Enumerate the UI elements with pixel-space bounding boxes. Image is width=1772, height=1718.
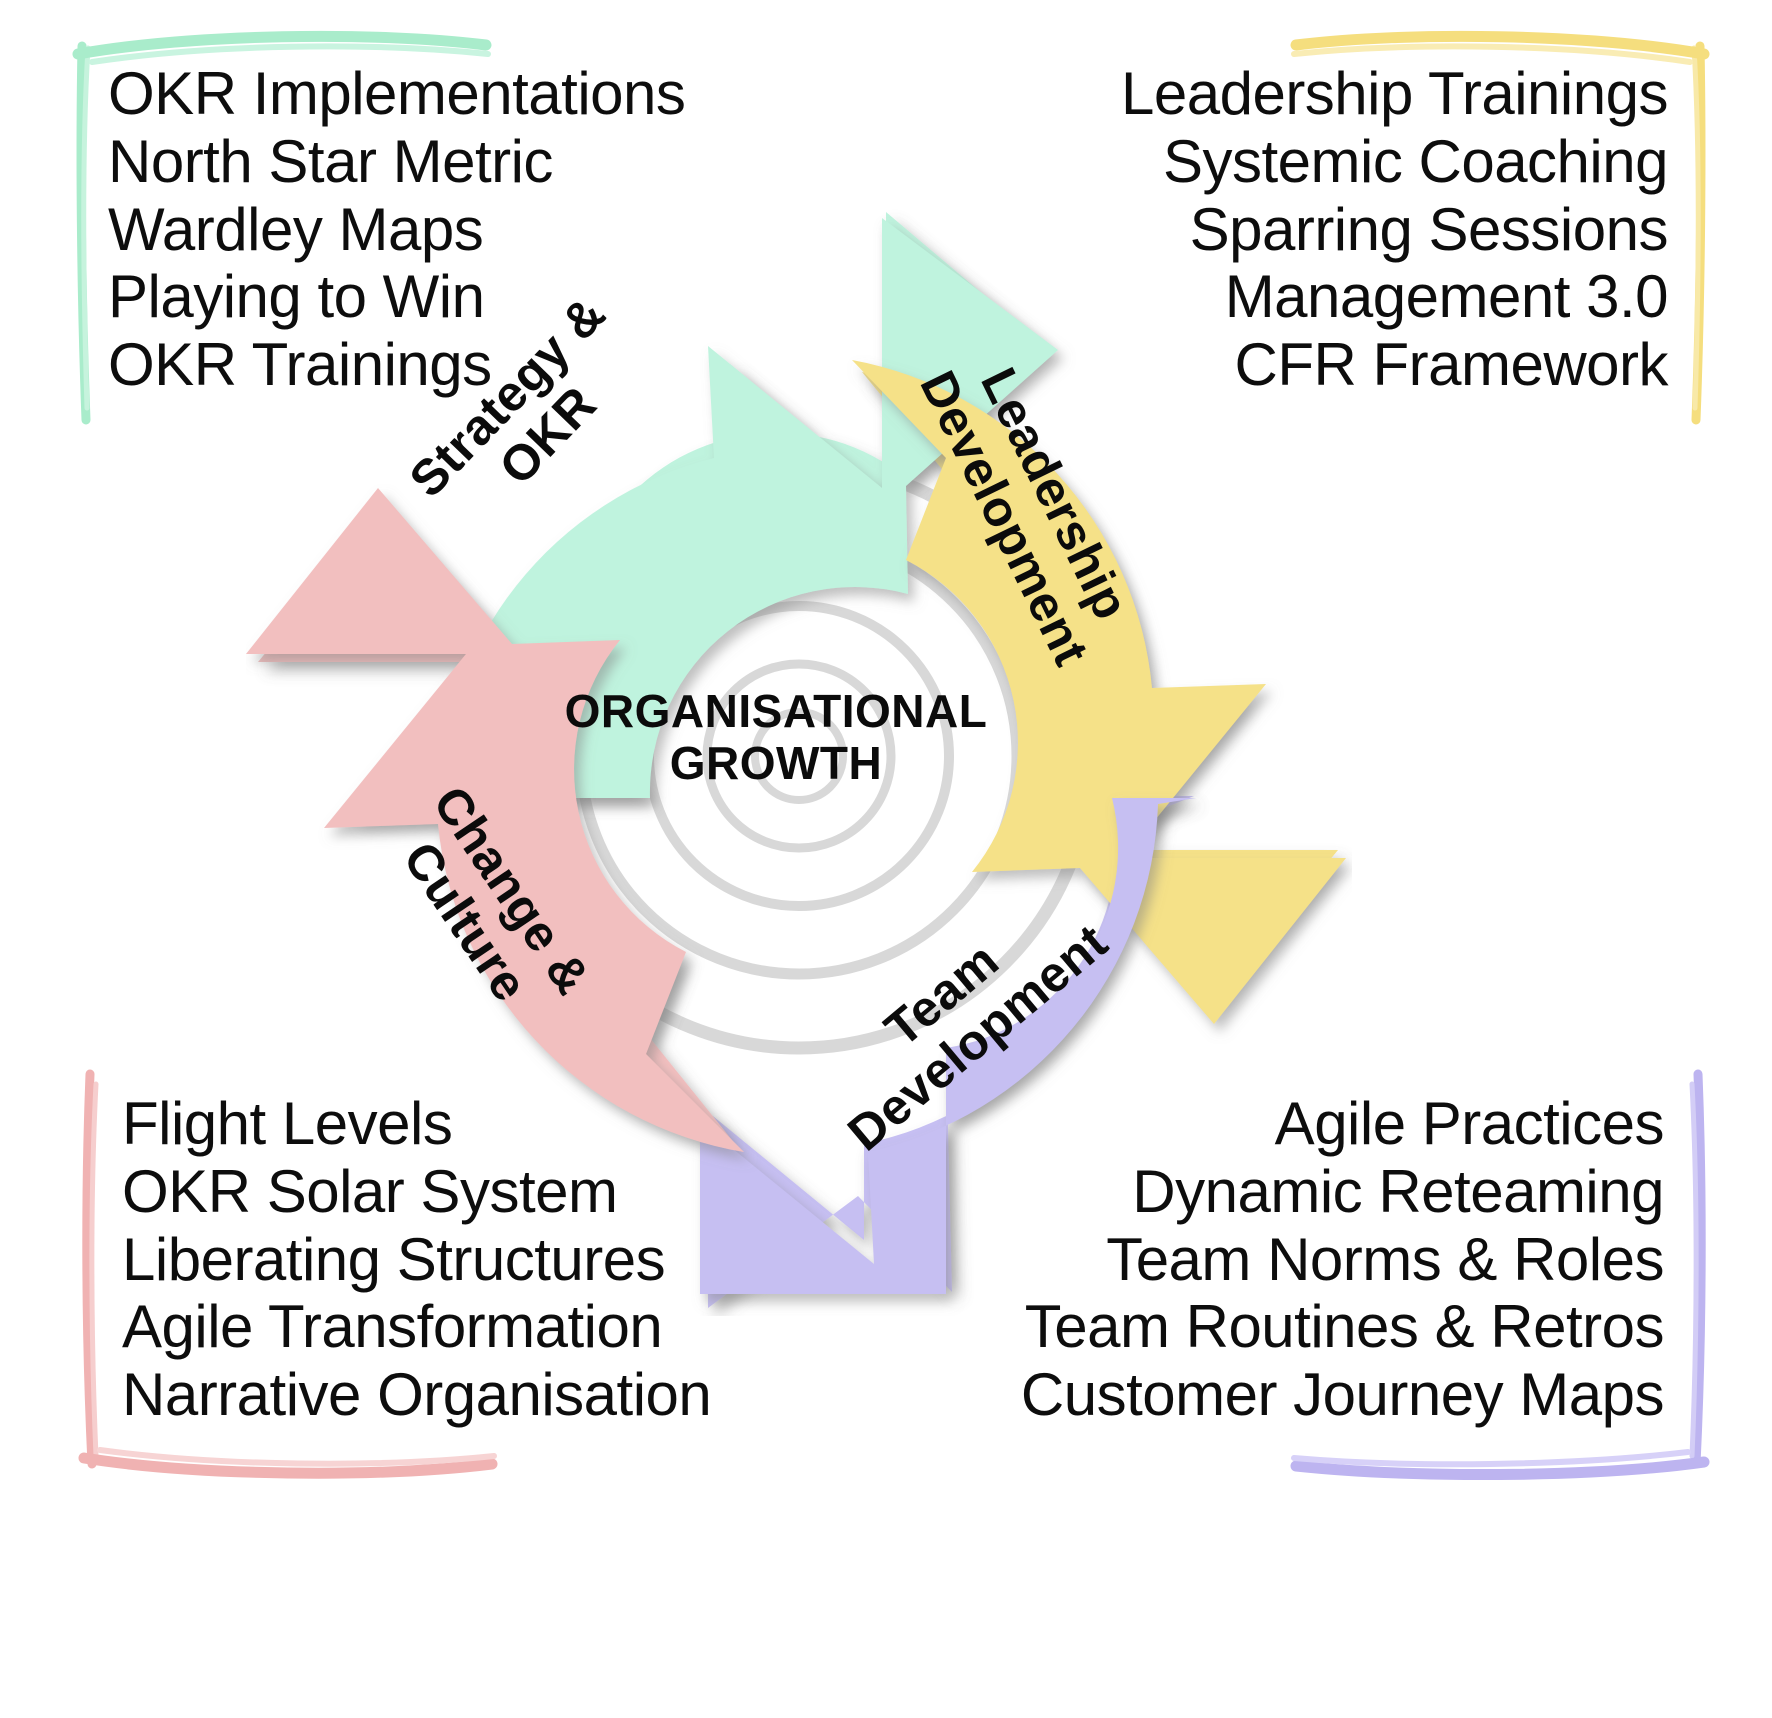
list-leadership-development: Leadership Trainings Systemic Coaching S…: [1121, 60, 1668, 399]
list-item: Customer Journey Maps: [1021, 1361, 1664, 1429]
list-item: Agile Practices: [1021, 1090, 1664, 1158]
list-item: Management 3.0: [1121, 263, 1668, 331]
list-change-culture: Flight Levels OKR Solar System Liberatin…: [122, 1090, 711, 1429]
list-item: Flight Levels: [122, 1090, 711, 1158]
diagram-canvas: Strategy & OKR Leadership Development Te…: [0, 0, 1772, 1718]
list-item: OKR Solar System: [122, 1158, 711, 1226]
list-strategy-okr: OKR Implementations North Star Metric Wa…: [108, 60, 685, 399]
list-item: Systemic Coaching: [1121, 128, 1668, 196]
list-item: Narrative Organisation: [122, 1361, 711, 1429]
list-item: Leadership Trainings: [1121, 60, 1668, 128]
list-item: CFR Framework: [1121, 331, 1668, 399]
list-item: Dynamic Reteaming: [1021, 1158, 1664, 1226]
list-team-development: Agile Practices Dynamic Reteaming Team N…: [1021, 1090, 1664, 1429]
list-item: OKR Implementations: [108, 60, 685, 128]
list-item: Agile Transformation: [122, 1293, 711, 1361]
list-item: Team Norms & Roles: [1021, 1226, 1664, 1294]
list-item: Playing to Win: [108, 263, 685, 331]
list-item: Liberating Structures: [122, 1226, 711, 1294]
list-item: Team Routines & Retros: [1021, 1293, 1664, 1361]
list-item: North Star Metric: [108, 128, 685, 196]
list-item: Wardley Maps: [108, 196, 685, 264]
list-item: Sparring Sessions: [1121, 196, 1668, 264]
list-item: OKR Trainings: [108, 331, 685, 399]
